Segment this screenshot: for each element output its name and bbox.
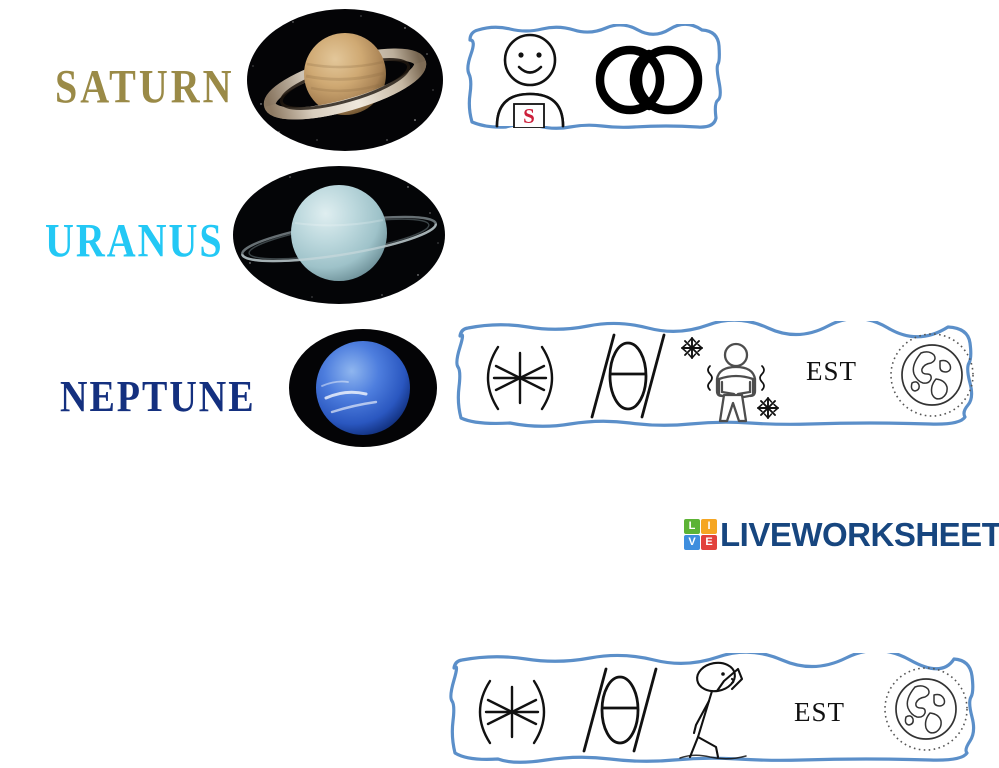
planet-image-neptune: [288, 328, 438, 448]
planet-image-saturn: [245, 8, 445, 153]
answer-box-neptune[interactable]: EST: [448, 653, 978, 765]
globe-earth-icon: [882, 665, 970, 758]
logo-square-v: V: [684, 535, 700, 550]
logo-square-e: E: [701, 535, 717, 550]
planet-label-uranus: URANUS: [45, 213, 224, 268]
smiley-person-with-s-card-icon: S: [484, 30, 576, 133]
liveworksheets-logo[interactable]: L I V E LIVEWORKSHEETS: [684, 514, 999, 554]
logo-square-i: I: [701, 519, 717, 534]
planet-label-neptune: NEPTUNE: [60, 371, 256, 423]
theta-between-slashes-icon: [576, 663, 664, 762]
answer-box-saturn[interactable]: S: [466, 24, 724, 132]
est-text-neptune: EST: [794, 697, 845, 728]
s-letter-on-card: S: [523, 104, 535, 128]
worksheet-row-neptune: NEPTUNE: [0, 320, 999, 470]
planet-label-saturn: SATURN: [55, 59, 235, 114]
stick-figure-looking-icon: [676, 655, 786, 768]
worksheet-row-saturn: SATURN: [0, 0, 999, 160]
star-in-parentheses-icon: [464, 673, 560, 756]
planet-image-uranus: [232, 165, 447, 305]
logo-square-l: L: [684, 519, 700, 534]
logo-squares: L I V E: [684, 519, 717, 550]
logo-wordmark: LIVEWORKSHEETS: [720, 518, 999, 551]
worksheet-row-uranus: URANUS: [0, 155, 999, 320]
two-interlocking-rings-icon: [594, 43, 706, 122]
